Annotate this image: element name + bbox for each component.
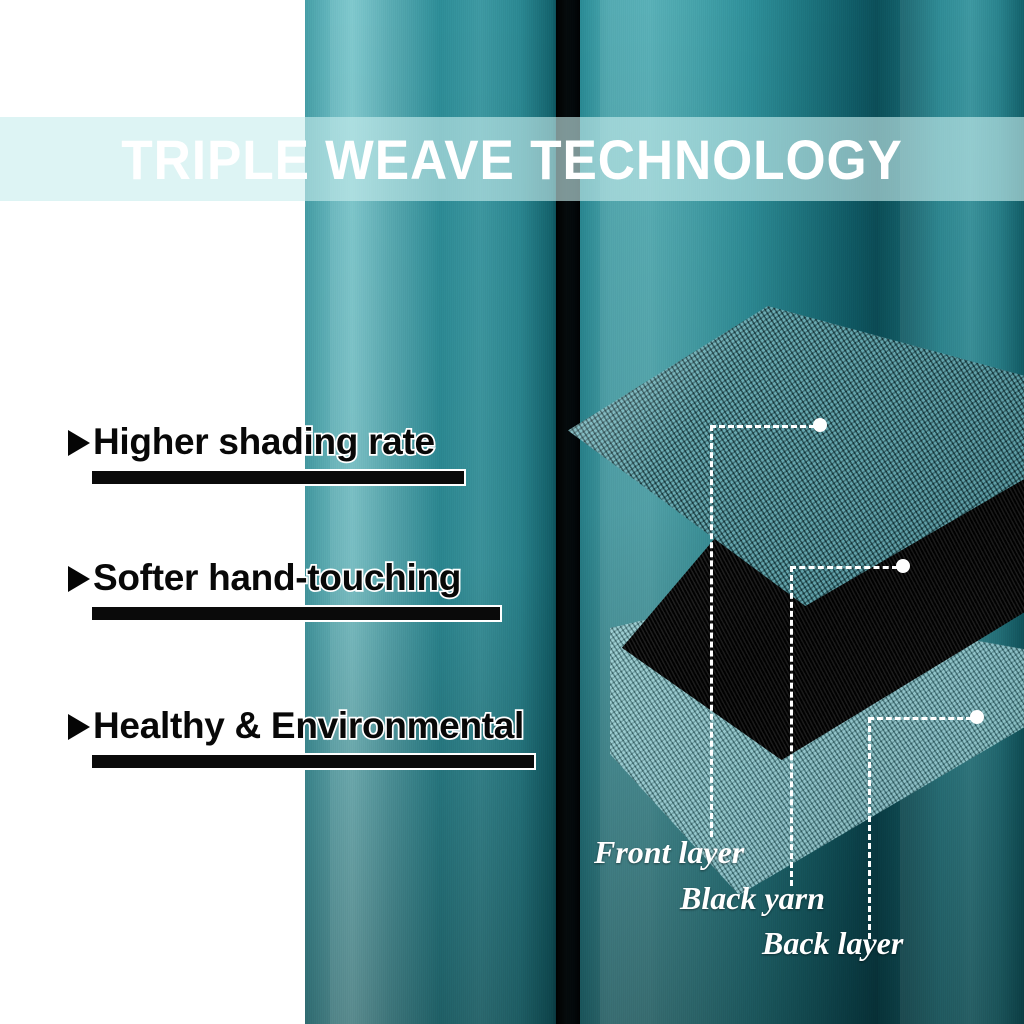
label-black-yarn: Black yarn	[680, 880, 825, 917]
triangle-right-icon	[68, 566, 90, 592]
feature-item-higher-shading-rate: Higher shading rate	[68, 421, 435, 488]
label-front-layer: Front layer	[594, 834, 744, 871]
product-infographic: Front layer Black yarn Back layer TRIPLE…	[0, 0, 1024, 1024]
feature-underline	[68, 605, 461, 624]
feature-label: Higher shading rate	[93, 421, 435, 463]
feature-item-softer-hand-touching: Softer hand-touching	[68, 557, 461, 624]
callout-dot	[896, 559, 910, 573]
callout-line-horizontal	[790, 566, 898, 569]
callout-line-vertical	[868, 717, 871, 939]
feature-underline	[68, 753, 524, 772]
label-back-layer: Back layer	[762, 925, 903, 962]
callout-dot	[813, 418, 827, 432]
page-title: TRIPLE WEAVE TECHNOLOGY	[41, 117, 983, 201]
triangle-right-icon	[68, 714, 90, 740]
feature-label: Healthy & Environmental	[93, 705, 524, 747]
triangle-right-icon	[68, 430, 90, 456]
callout-line-vertical	[710, 425, 713, 837]
callout-dot	[970, 710, 984, 724]
feature-label: Softer hand-touching	[93, 557, 461, 599]
feature-underline	[68, 469, 435, 488]
callout-line-vertical	[790, 566, 793, 886]
callout-line-horizontal	[868, 717, 972, 720]
callout-line-horizontal	[710, 425, 815, 428]
fabric-layer-diagram	[580, 280, 1024, 860]
feature-item-healthy-environmental: Healthy & Environmental	[68, 705, 524, 772]
